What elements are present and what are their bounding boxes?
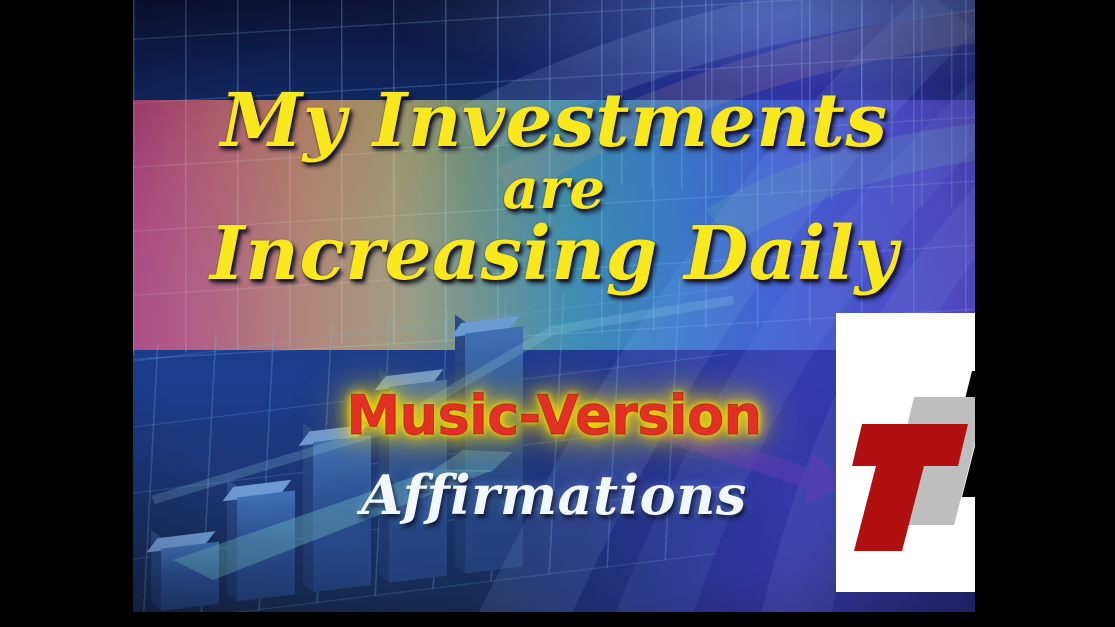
letterbox-right: [975, 0, 1115, 627]
letterbox-bottom: [0, 612, 1115, 627]
top-glow: [133, 0, 975, 110]
letterbox-left: [0, 0, 133, 627]
thumbnail-canvas: My Investments are Increasing Daily Musi…: [0, 0, 1115, 627]
